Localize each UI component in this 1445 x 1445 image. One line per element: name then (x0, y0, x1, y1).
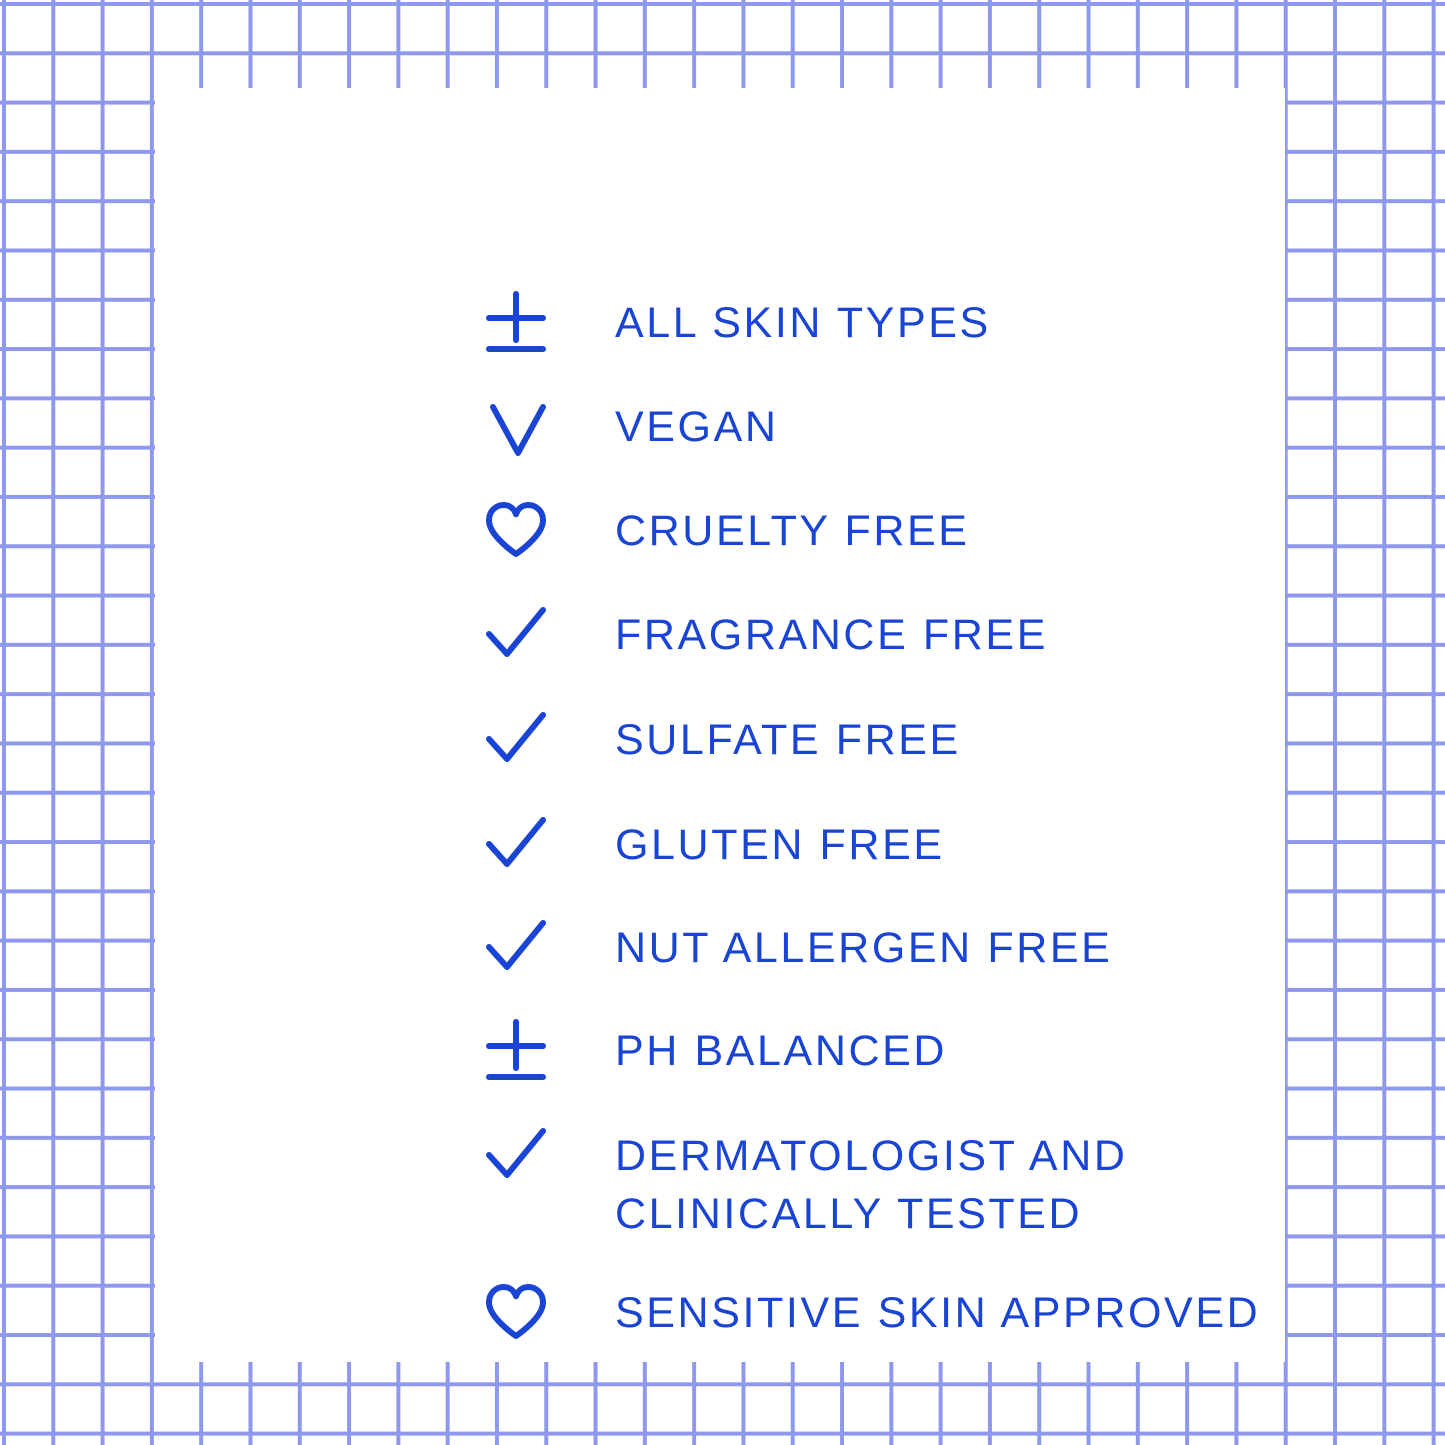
claim-label: SENSITIVE SKIN APPROVED (615, 1284, 1260, 1342)
heart-outline-icon (485, 502, 547, 560)
claims-list: ALL SKIN TYPESVEGANCRUELTY FREEFRAGRANCE… (155, 88, 1285, 1362)
claim-label: NUT ALLERGEN FREE (615, 919, 1112, 977)
checkmark-icon (485, 607, 547, 663)
claim-label: PH BALANCED (615, 1022, 947, 1080)
checkmark-icon (485, 1128, 547, 1184)
product-claims-graphic: ALL SKIN TYPESVEGANCRUELTY FREEFRAGRANCE… (0, 0, 1445, 1445)
heart-outline-icon (485, 1284, 547, 1342)
claim-label: VEGAN (615, 398, 779, 456)
plus-minus-icon (485, 1024, 547, 1086)
checkmark-icon (485, 920, 547, 976)
claim-label: CRUELTY FREE (615, 502, 970, 560)
claim-label: ALL SKIN TYPES (615, 294, 991, 352)
claim-label: FRAGRANCE FREE (615, 606, 1048, 664)
claim-label: GLUTEN FREE (615, 816, 945, 874)
v-vegan-icon (487, 403, 549, 461)
checkmark-icon (485, 712, 547, 768)
claim-label: SULFATE FREE (615, 711, 961, 769)
checkmark-icon (485, 817, 547, 873)
plus-minus-icon (485, 296, 547, 358)
claim-label: DERMATOLOGIST AND CLINICALLY TESTED (615, 1127, 1128, 1243)
claims-card-panel: ALL SKIN TYPESVEGANCRUELTY FREEFRAGRANCE… (155, 88, 1285, 1362)
